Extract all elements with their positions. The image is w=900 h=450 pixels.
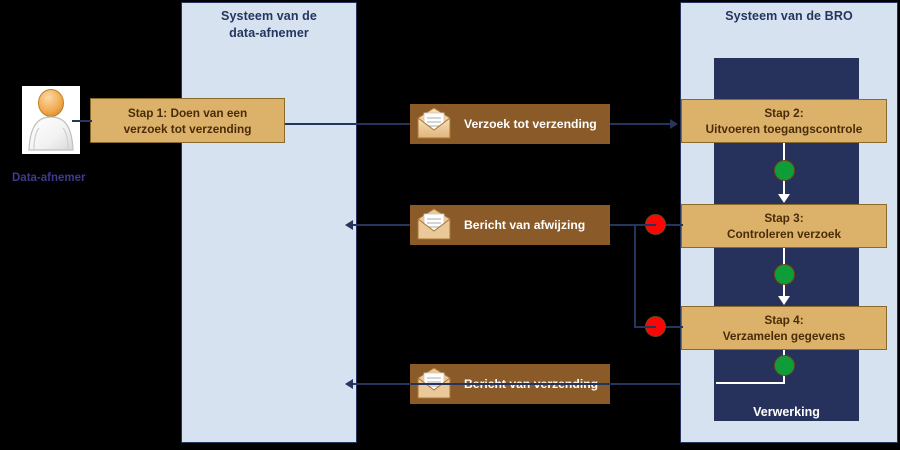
flow-dot-ok-stap2 [774,160,795,181]
connector-verzending-to-afnemer [352,383,680,385]
lane-bro-title: Systeem van de BRO [680,8,898,25]
lane-data-afnemer-title: Systeem van de data-afnemer [181,8,357,42]
connector-reject-bus-top [634,224,656,226]
step-line2: Uitvoeren toegangscontrole [706,121,863,137]
step-line2: verzoek tot verzending [124,121,252,137]
connector-stap1-to-verzoek [285,123,410,125]
step-line1: Stap 1: Doen van een [124,105,252,121]
arrowhead-to-stap2 [670,119,678,129]
step-box-stap-3[interactable]: Stap 3: Controleren verzoek [681,204,887,248]
step-line2: Verzamelen gegevens [723,328,846,344]
message-box-verzoek[interactable]: Verzoek tot verzending [410,104,610,144]
arrowhead-to-stap3 [778,194,790,203]
connector-actor-to-stap1 [72,120,92,122]
step-line1: Stap 4: [723,312,846,328]
step-box-stap-2[interactable]: Stap 2: Uitvoeren toegangscontrole [681,99,887,143]
lane-title-line2: data-afnemer [181,25,357,42]
arrowhead-to-afnemer-verzending [345,379,353,389]
envelope-icon [414,205,454,245]
step-line1: Stap 3: [727,210,841,226]
message-box-afwijzing[interactable]: Bericht van afwijzing [410,205,610,245]
envelope-icon [414,104,454,144]
connector-reject-to-afwijzing [610,224,636,226]
step-box-stap-4[interactable]: Stap 4: Verzamelen gegevens [681,306,887,350]
step-line1: Stap 2: [706,105,863,121]
connector-reject-bus-bottom [634,326,656,328]
lane-title-line1: Systeem van de BRO [680,8,898,25]
arrowhead-to-afnemer-afwijzing [345,220,353,230]
step-line2: Controleren verzoek [727,226,841,242]
lane-title-line1: Systeem van de [181,8,357,25]
step-box-stap-1[interactable]: Stap 1: Doen van een verzoek tot verzend… [90,98,285,143]
connector-stap4-left [716,382,785,384]
message-label: Bericht van afwijzing [454,218,585,232]
flow-dot-ok-stap4 [774,355,795,376]
connector-reject-bus [634,224,636,327]
message-label: Verzoek tot verzending [454,117,597,131]
connector-verzoek-to-stap2 [610,123,672,125]
lane-data-afnemer [181,2,357,443]
diagram-canvas: Systeem van de data-afnemer Systeem van … [0,0,900,450]
connector-afwijzing-to-afnemer [352,224,410,226]
processing-band-label: Verwerking [714,405,859,419]
arrowhead-to-stap4 [778,296,790,305]
actor-label: Data-afnemer [12,172,86,184]
flow-dot-ok-stap3 [774,264,795,285]
